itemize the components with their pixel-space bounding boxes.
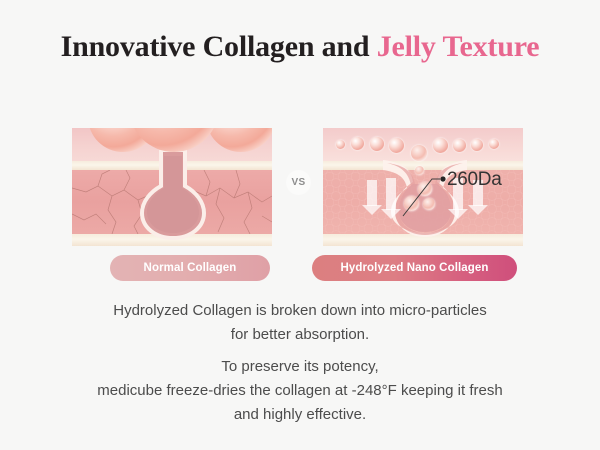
paragraph1-line1: Hydrolyzed Collagen is broken down into …: [0, 299, 600, 323]
paragraph1-line2: for better absorption.: [0, 323, 600, 347]
page-title-plain: Innovative Collagen and: [61, 30, 377, 63]
description-paragraph-2: To preserve its potency, medicube freeze…: [0, 355, 600, 427]
page-title: Innovative Collagen and Jelly Texture: [0, 30, 600, 64]
paragraph2-line3: and highly effective.: [0, 403, 600, 427]
normal-collagen-label-pill: Normal Collagen: [110, 255, 270, 281]
paragraph2-line1: To preserve its potency,: [0, 355, 600, 379]
callout-leader: [0, 76, 600, 246]
comparison-diagram: VS 260Da: [0, 76, 600, 246]
paragraph2-line2: medicube freeze-dries the collagen at -2…: [0, 379, 600, 403]
molecular-weight-label: 260Da: [447, 169, 502, 191]
description-paragraph-1: Hydrolyzed Collagen is broken down into …: [0, 299, 600, 347]
hydrolyzed-nano-collagen-label-pill: Hydrolyzed Nano Collagen: [312, 255, 517, 281]
dot-marker: [440, 176, 445, 181]
page-title-accent: Jelly Texture: [377, 30, 540, 63]
